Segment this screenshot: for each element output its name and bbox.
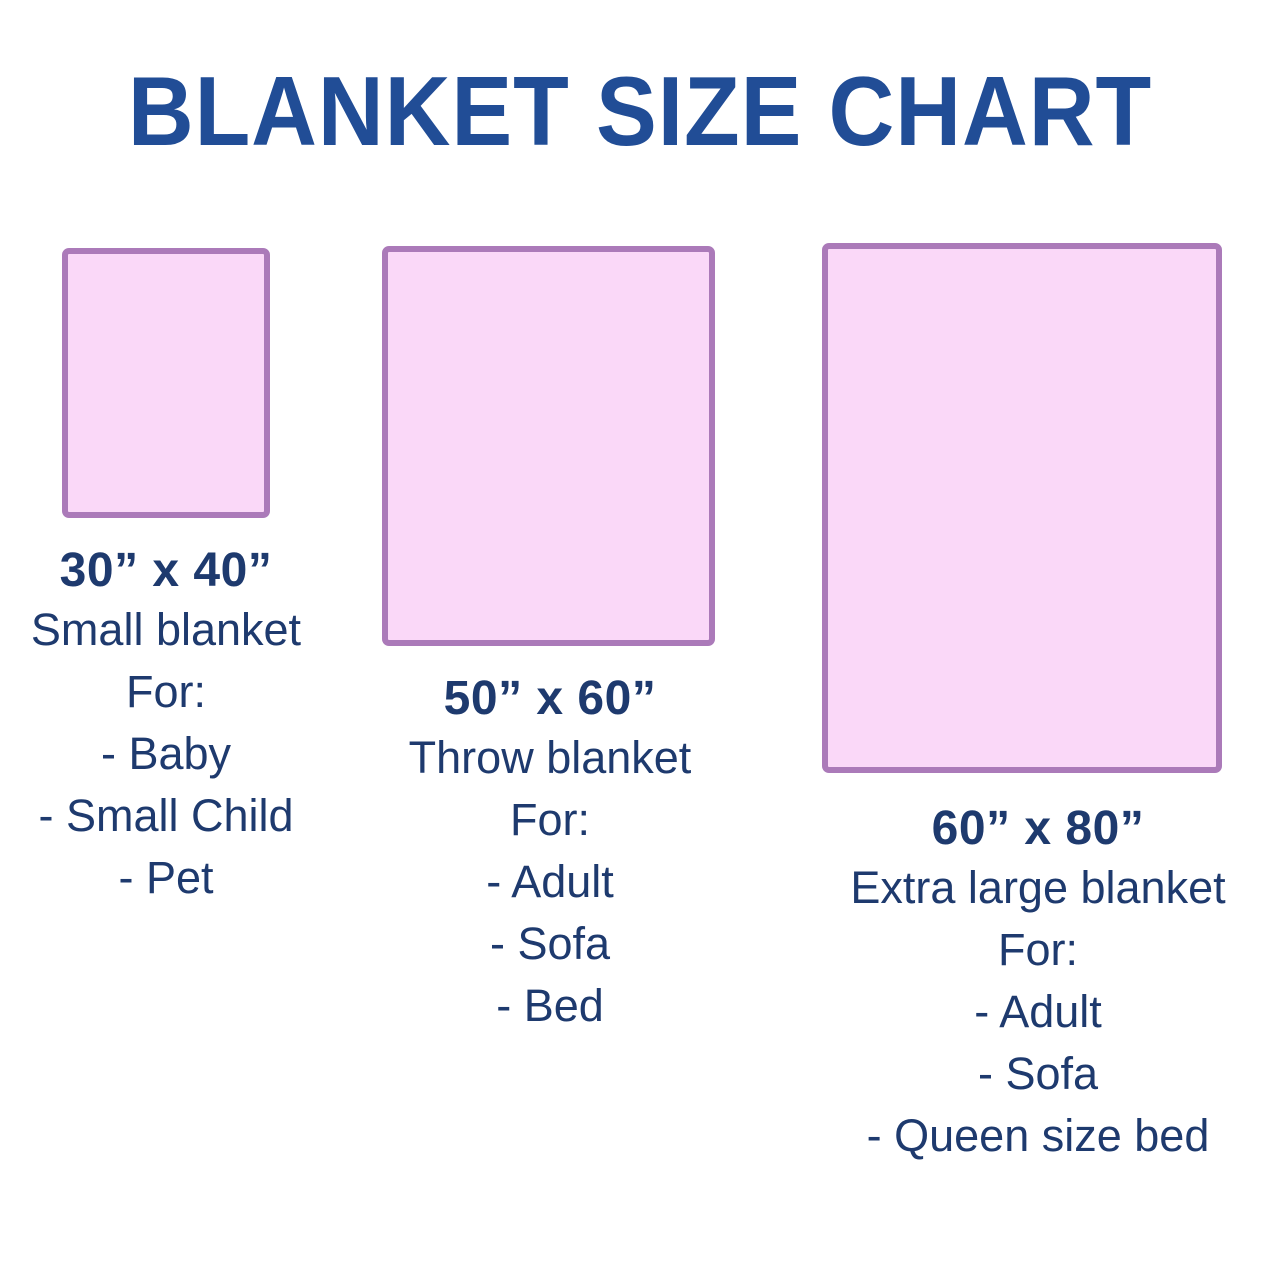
blanket-name-label: Extra large blanket xyxy=(812,857,1264,919)
size-column-text-small: 30” x 40” Small blanket For: - Baby - Sm… xyxy=(0,543,346,909)
blanket-rectangle-small xyxy=(62,248,270,518)
size-column-text-extra-large: 60” x 80” Extra large blanket For: - Adu… xyxy=(812,801,1264,1167)
blanket-rectangle-throw xyxy=(382,246,715,646)
dimension-label: 60” x 80” xyxy=(812,801,1264,857)
dimension-label: 30” x 40” xyxy=(0,543,346,599)
blanket-rectangle-extra-large xyxy=(822,243,1222,773)
dimension-label: 50” x 60” xyxy=(370,671,730,727)
for-label: For: xyxy=(812,919,1264,981)
use-item: - Pet xyxy=(0,847,346,909)
use-item: - Sofa xyxy=(370,913,730,975)
for-label: For: xyxy=(0,661,346,723)
use-item: - Bed xyxy=(370,975,730,1037)
blanket-name-label: Throw blanket xyxy=(370,727,730,789)
blanket-name-label: Small blanket xyxy=(0,599,346,661)
use-item: - Small Child xyxy=(0,785,346,847)
page-title: BLANKET SIZE CHART xyxy=(45,62,1235,160)
use-item: - Adult xyxy=(812,981,1264,1043)
blanket-size-chart: BLANKET SIZE CHART 30” x 40” Small blank… xyxy=(0,0,1280,1280)
use-item: - Sofa xyxy=(812,1043,1264,1105)
size-column-text-throw: 50” x 60” Throw blanket For: - Adult - S… xyxy=(370,671,730,1037)
for-label: For: xyxy=(370,789,730,851)
use-item: - Baby xyxy=(0,723,346,785)
use-item: - Queen size bed xyxy=(812,1105,1264,1167)
use-item: - Adult xyxy=(370,851,730,913)
